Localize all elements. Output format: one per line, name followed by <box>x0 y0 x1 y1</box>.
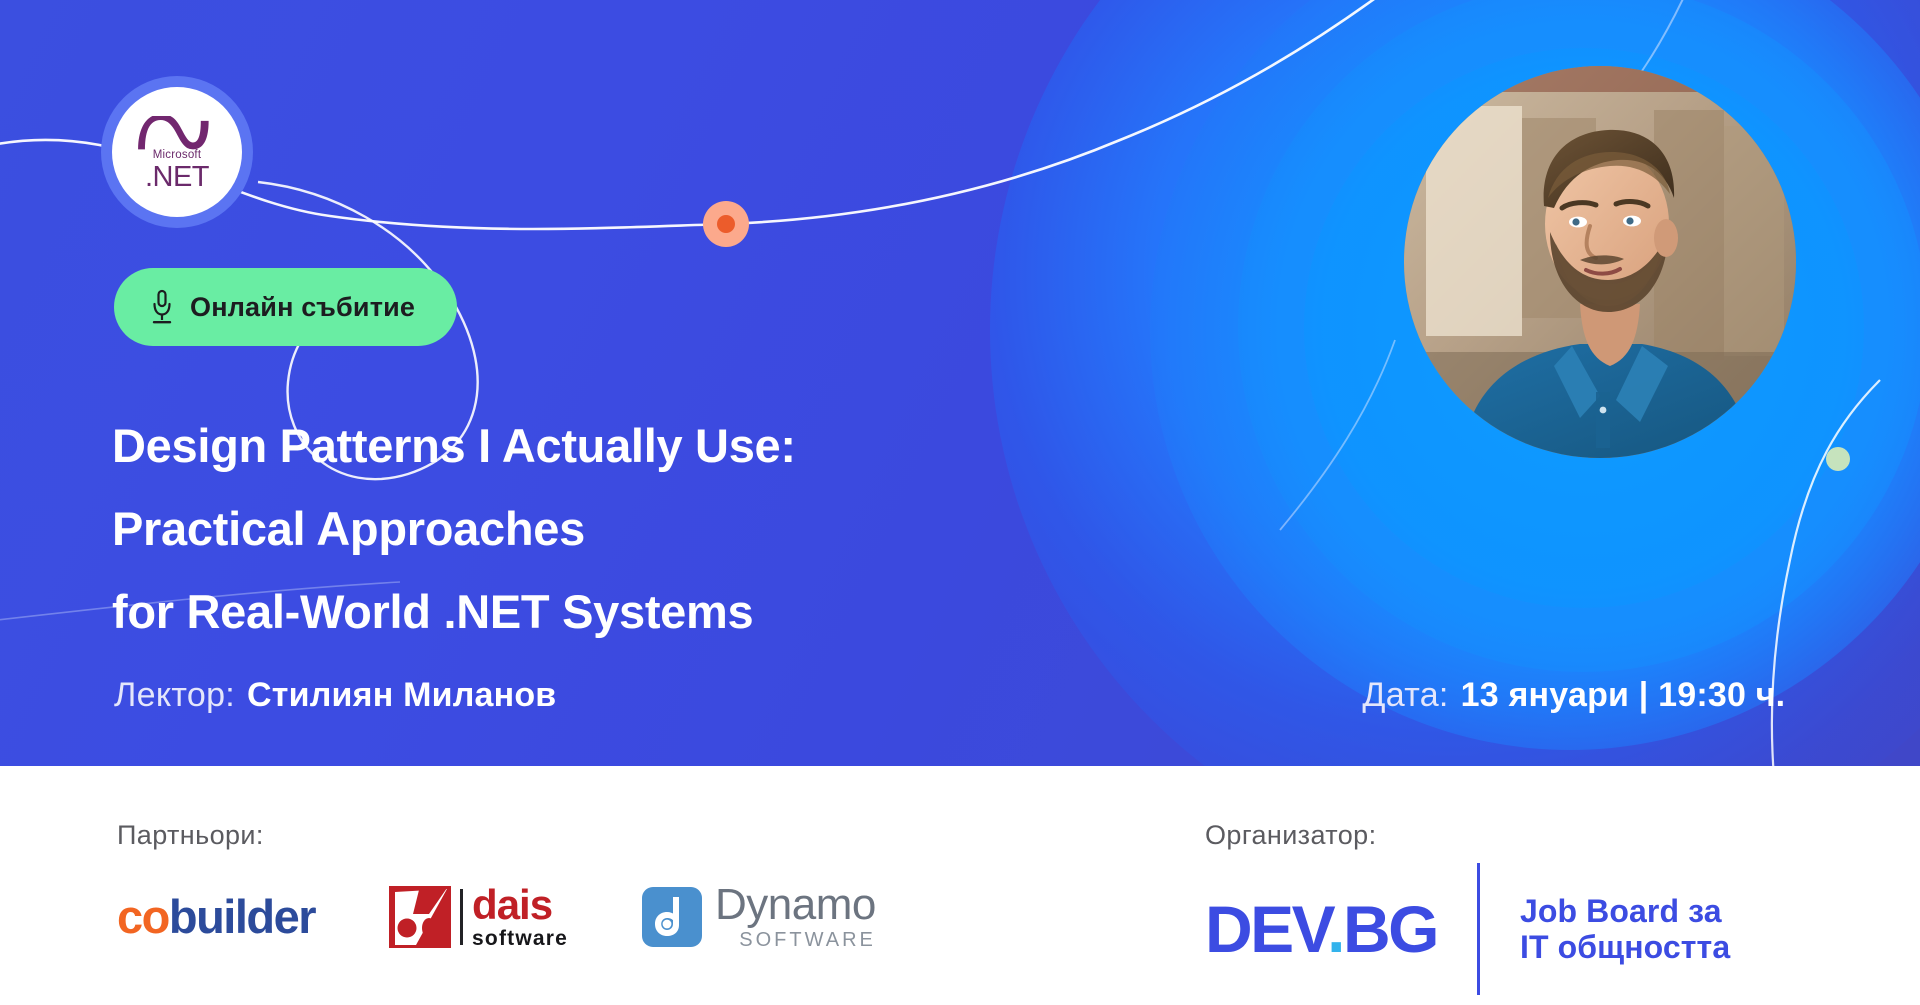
organizer-divider <box>1477 863 1480 995</box>
microphone-icon <box>150 289 174 325</box>
partner-logo-dynamo[interactable]: Dynamo SOFTWARE <box>642 883 876 950</box>
partners-block: Партньори: cobuilder <box>117 820 876 950</box>
partner-logo-dais[interactable]: dais software <box>389 884 568 949</box>
organizer-block: Организатор: DEV.BG Job Board за IT общн… <box>1205 820 1730 995</box>
dotnet-swoosh-icon <box>138 116 216 152</box>
dais-mark-icon <box>389 886 451 948</box>
dais-wordmark: dais software <box>472 884 568 949</box>
speaker-label: Лектор: <box>114 676 235 715</box>
organizer-logo-row: DEV.BG Job Board за IT общността <box>1205 863 1730 995</box>
hero-section: Microsoft .NET Онлайн събитие Design Pat… <box>0 0 1920 766</box>
dais-word: dais <box>472 884 568 926</box>
green-accent-dot <box>1826 447 1850 471</box>
footer-section: Партньори: cobuilder <box>0 766 1920 1005</box>
cobuilder-builder: builder <box>169 890 315 943</box>
date-label: Дата: <box>1362 676 1448 715</box>
organizer-label: Организатор: <box>1205 820 1730 851</box>
cobuilder-co: co <box>117 890 169 943</box>
orange-accent-dot <box>703 201 749 247</box>
dotnet-logo: Microsoft .NET <box>101 76 253 228</box>
organizer-tagline: Job Board за IT общността <box>1520 893 1730 965</box>
event-meta: Лектор: Стилиян Миланов Дата: 13 януари … <box>114 676 1474 715</box>
partner-logo-cobuilder[interactable]: cobuilder <box>117 893 315 940</box>
dais-divider <box>460 889 463 945</box>
dynamo-mark-icon <box>642 887 702 947</box>
dais-subword: software <box>472 928 568 949</box>
title-line-3: for Real-World .NET Systems <box>112 570 1192 653</box>
devbg-bg: BG <box>1343 892 1437 966</box>
dotnet-label: .NET <box>145 163 209 192</box>
speaker-info: Лектор: Стилиян Миланов <box>114 676 556 715</box>
dynamo-word: Dynamo <box>715 883 876 927</box>
online-event-label: Онлайн събитие <box>190 292 415 323</box>
date-info: Дата: 13 януари | 19:30 ч. <box>1362 676 1785 715</box>
devbg-dot: . <box>1327 892 1343 966</box>
dotnet-logo-inner: Microsoft .NET <box>112 87 242 217</box>
organizer-tagline-line-1: Job Board за <box>1520 893 1730 929</box>
title-line-2: Practical Approaches <box>112 487 1192 570</box>
devbg-dev: DEV <box>1205 892 1327 966</box>
dynamo-subword: SOFTWARE <box>739 930 876 950</box>
online-event-badge[interactable]: Онлайн събитие <box>114 268 457 346</box>
devbg-logo[interactable]: DEV.BG <box>1205 896 1437 962</box>
speaker-portrait <box>1404 66 1796 458</box>
partners-label: Партньори: <box>117 820 876 851</box>
event-title: Design Patterns I Actually Use: Practica… <box>112 404 1192 653</box>
portrait-illustration <box>1404 66 1796 458</box>
event-banner: Microsoft .NET Онлайн събитие Design Pat… <box>0 0 1920 1005</box>
dynamo-wordmark: Dynamo SOFTWARE <box>715 883 876 950</box>
partners-logos: cobuilder <box>117 883 876 950</box>
speaker-name: Стилиян Миланов <box>247 676 556 715</box>
organizer-tagline-line-2: IT общността <box>1520 929 1730 965</box>
date-value: 13 януари | 19:30 ч. <box>1461 676 1786 715</box>
title-line-1: Design Patterns I Actually Use: <box>112 404 1192 487</box>
